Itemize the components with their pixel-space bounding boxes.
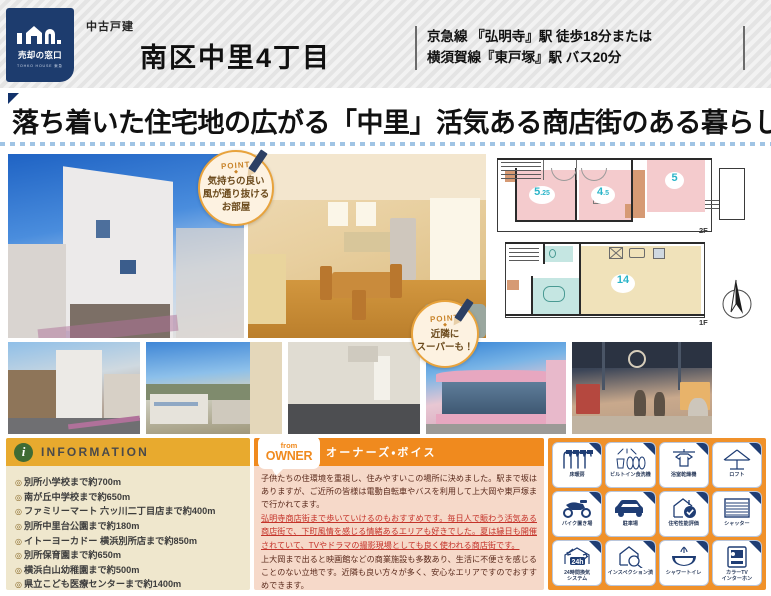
list-item: ◎ファミリーマート 六ッ川二丁目店まで約400m <box>15 504 243 519</box>
badge-owner-label: OWNER <box>266 450 312 463</box>
bullet-icon: ◎ <box>15 537 22 546</box>
view-from-balcony-photo <box>146 342 282 434</box>
access-line-1: 京急線 『弘明寺』駅 徒歩18分または <box>427 27 733 48</box>
street-front-photo <box>8 342 140 434</box>
owner-voice-paragraph-2: 弘明寺商店街まで歩いていけるのもおすすめです。毎日人で賑わう活気ある商店街で、下… <box>261 512 537 551</box>
shower-toilet-icon <box>669 545 699 569</box>
feature-label-line2: インターホン <box>722 576 753 582</box>
logo-text-en: TOHKO HOUSE 東急 <box>17 64 63 69</box>
list-item-label: 南が丘中学校まで約650m <box>24 492 130 502</box>
header: 売却の窓口 TOHKO HOUSE 東急 中古戸建 南区中里4丁目 京急線 『弘… <box>0 0 771 88</box>
list-item: ◎別所保育園まで約650m <box>15 548 243 563</box>
floor-label-2f: 2F <box>699 226 708 235</box>
list-item-label: 別所中里台公園まで約180m <box>24 521 139 531</box>
floorplan-2f-annex <box>719 168 745 220</box>
corner-marker-icon <box>589 443 601 455</box>
list-item-label: 別所保育園まで約650m <box>24 550 121 560</box>
room-badge-2f-2: 4.5 <box>591 186 615 204</box>
room-badge-2f-3: 5 <box>665 172 684 189</box>
floorplan: 5.25 4.5 5 2F <box>497 158 765 336</box>
owner-voice-paragraph-3: 上大岡まで出ると映画館などの商業施設も多数あり、生活に不便さを感じることのない立… <box>261 553 537 590</box>
bullet-icon: ◎ <box>15 566 22 575</box>
feature-label: 床暖房 <box>568 472 585 478</box>
list-item-label: ファミリーマート 六ッ川二丁目店まで約400m <box>24 506 215 516</box>
feature-motorbike-parking: バイク置き場 <box>552 491 602 537</box>
bullet-icon: ◎ <box>15 580 22 589</box>
feature-label: ロフト <box>728 472 745 478</box>
company-logo: 売却の窓口 TOHKO HOUSE 東急 <box>6 8 74 82</box>
feature-label: 24時間換気システム <box>563 570 591 582</box>
feature-label: 浴室乾燥機 <box>670 472 697 478</box>
information-list: ◎別所小学校まで約700m ◎南が丘中学校まで約650m ◎ファミリーマート 六… <box>6 466 250 590</box>
color-tv-intercom-icon <box>725 545 749 569</box>
feature-dishwasher: ビルトイン食洗機 <box>605 442 655 488</box>
room-size-frac: .5 <box>603 190 609 197</box>
feature-label: シャワートイレ <box>665 570 703 576</box>
list-item: ◎イトーヨーカドー 横浜別所店まで約850m <box>15 534 243 549</box>
feature-loft: ロフト <box>712 442 762 488</box>
annex-stair-2f <box>705 198 719 212</box>
balcony-photo <box>288 342 420 434</box>
floorplan-2f: 5.25 4.5 5 <box>497 158 712 238</box>
ventilation-badge-text: 24h <box>572 559 584 566</box>
point-1-line3: お部屋 <box>222 202 251 215</box>
property-kind-label: 中古戸建 <box>86 18 134 34</box>
corner-marker-icon <box>643 443 655 455</box>
feature-label: 駐車場 <box>622 521 639 527</box>
bullet-icon: ◎ <box>15 493 22 502</box>
room-badge-2f-1: 5.25 <box>529 186 555 204</box>
list-item: ◎別所中里台公園まで約180m <box>15 519 243 534</box>
point-callout-1: POINT ◆ 気持ちの良い 風が通り抜ける お部屋 <box>198 150 274 226</box>
list-item: ◎別所小学校まで約700m <box>15 475 243 490</box>
point-2-line2: スーパーも！ <box>417 342 474 355</box>
feature-ventilation-24h: 24h 24時間換気システム <box>552 540 602 586</box>
feature-label: ビルトイン食洗機 <box>609 472 652 478</box>
point-1-line2: 風が通り抜ける <box>203 189 270 202</box>
bullet-icon: ◎ <box>15 522 22 531</box>
room-badge-1f-1: 14 <box>611 274 635 293</box>
feature-label: インスペクション済 <box>607 570 654 576</box>
corner-marker-icon <box>643 492 655 504</box>
point-1-line1: 気持ちの良い <box>207 176 264 189</box>
floor-label-1f: 1F <box>699 318 708 327</box>
corner-marker-icon <box>749 541 761 553</box>
house-logo-icon <box>17 22 63 46</box>
catch-copy-band: 落ち着いた住宅地の広がる「中里」活気ある商店街のある暮らし <box>0 88 771 145</box>
information-panel: i INFORMATION ◎別所小学校まで約700m ◎南が丘中学校まで約65… <box>6 438 250 590</box>
information-header: i INFORMATION <box>6 438 250 466</box>
corner-marker-icon <box>589 541 601 553</box>
access-info: 京急線 『弘明寺』駅 徒歩18分または 横須賀線『東戸塚』駅 バス20分 <box>415 26 745 70</box>
corner-marker-icon <box>696 492 708 504</box>
inspection-icon <box>615 545 645 569</box>
feature-shutter: シャッター <box>712 491 762 537</box>
list-item: ◎南が丘中学校まで約650m <box>15 490 243 505</box>
from-owner-badge: from OWNER <box>258 438 320 469</box>
corner-marker-icon <box>696 541 708 553</box>
bullet-icon: ◎ <box>15 551 22 560</box>
feature-color-tv-intercom: カラーTVインターホン <box>712 540 762 586</box>
owner-voice-header: from OWNER オーナーズ・ボイス <box>254 438 544 466</box>
info-icon: i <box>14 443 33 462</box>
feature-label-line1: 24時間換気 <box>564 570 590 576</box>
feature-label-line2: システム <box>567 576 587 582</box>
owner-voice-title: オーナーズ・ボイス <box>326 444 437 460</box>
feature-label: バイク置き場 <box>561 521 593 527</box>
list-item: ◎県立こども医療センターまで約1400m <box>15 577 243 590</box>
corner-marker-icon <box>749 492 761 504</box>
corner-marker-icon <box>696 443 708 455</box>
owner-voice-body: 子供たちの住環境を重視し、住みやすいこの場所に決めました。駅まで坂はありますが、… <box>254 466 544 590</box>
point-2-dot: ◆ <box>443 324 447 327</box>
list-item: ◎横浜白山幼稚園まで約500m <box>15 563 243 578</box>
access-line-2: 横須賀線『東戸塚』駅 バス20分 <box>427 48 733 69</box>
feature-label: 住宅性能評価 <box>667 521 700 527</box>
corner-marker-icon <box>589 492 601 504</box>
corner-marker-icon <box>643 541 655 553</box>
corner-marker-icon <box>749 443 761 455</box>
feature-bath-dryer: 浴室乾燥機 <box>659 442 709 488</box>
information-title: INFORMATION <box>41 445 149 459</box>
feature-shower-toilet: シャワートイレ <box>659 540 709 586</box>
room-size: 5 <box>671 172 677 184</box>
bullet-icon: ◎ <box>15 507 22 516</box>
room-size: 14 <box>617 274 629 286</box>
list-item-label: 別所小学校まで約700m <box>24 477 121 487</box>
flyer-page: 売却の窓口 TOHKO HOUSE 東急 中古戸建 南区中里4丁目 京急線 『弘… <box>0 0 771 596</box>
house-performance-icon <box>669 496 699 520</box>
list-item-label: 横浜白山幼稚園まで約500m <box>24 565 139 575</box>
list-item-label: イトーヨーカドー 横浜別所店まで約850m <box>24 536 197 546</box>
feature-floor-heating: 床暖房 <box>552 442 602 488</box>
feature-label: シャッター <box>723 521 750 527</box>
room-size-frac: .25 <box>540 190 550 197</box>
logo-text-jp: 売却の窓口 <box>18 49 62 61</box>
point-callout-2: POINT ◆ 近隣に スーパーも！ <box>411 300 479 368</box>
shutter-icon <box>723 496 751 520</box>
feature-inspection: インスペクション済 <box>605 540 655 586</box>
decorative-rule <box>0 142 771 146</box>
shopping-arcade-photo <box>572 342 712 434</box>
bath-dryer-icon <box>669 447 699 471</box>
floorplan-1f: 14 <box>497 242 712 332</box>
feature-house-performance: 住宅性能評価 <box>659 491 709 537</box>
compass-rose-icon <box>719 278 755 320</box>
owner-voice-panel: from OWNER オーナーズ・ボイス 子供たちの住環境を重視し、住みやすいこ… <box>254 438 544 590</box>
point-1-dot: ◆ <box>234 171 238 174</box>
feature-car-parking: 駐車場 <box>605 491 655 537</box>
page-title: 南区中里4丁目 <box>140 36 331 75</box>
catch-copy-text: 落ち着いた住宅地の広がる「中里」活気ある商店街のある暮らし <box>12 101 767 140</box>
feature-label: カラーTVインターホン <box>721 570 754 582</box>
feature-icon-panel: 床暖房 ビルトイン食洗機 <box>548 438 766 590</box>
list-item-label: 県立こども医療センターまで約1400m <box>24 579 181 589</box>
bullet-icon: ◎ <box>15 478 22 487</box>
owner-voice-paragraph-1: 子供たちの住環境を重視し、住みやすいこの場所に決めました。駅まで坂はありますが、… <box>261 472 537 511</box>
feature-grid: 床暖房 ビルトイン食洗機 <box>552 442 762 586</box>
point-2-line1: 近隣に <box>431 329 460 342</box>
